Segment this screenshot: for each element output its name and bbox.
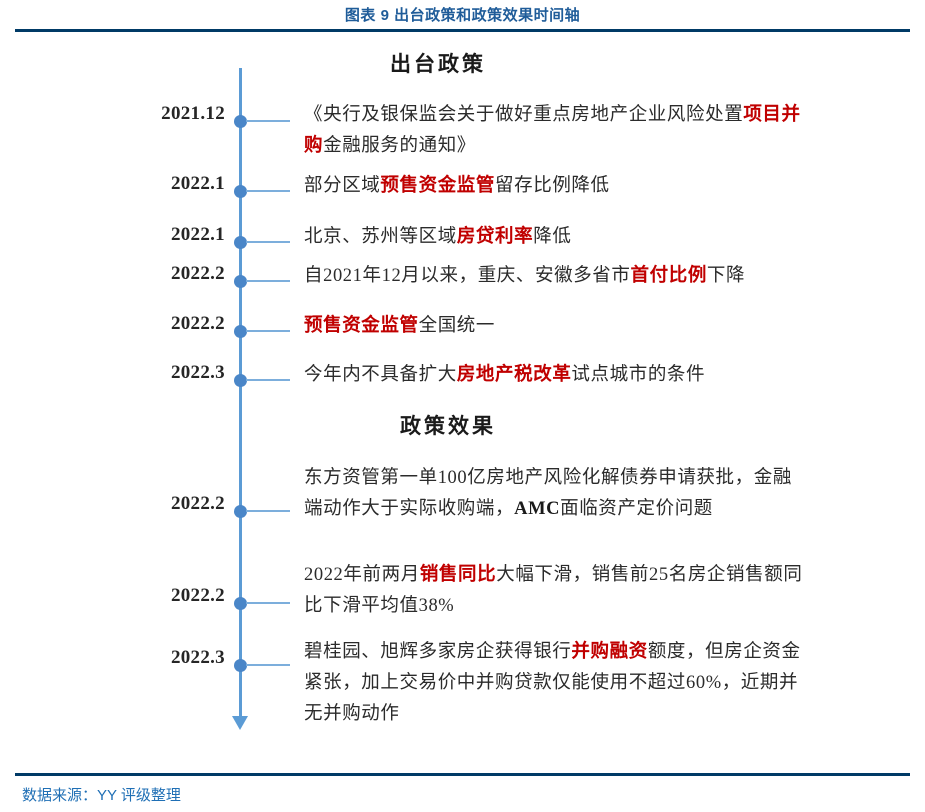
timeline-arrow-icon	[232, 716, 248, 730]
text-segment: 自2021年12月以来，重庆、安徽多省市	[304, 266, 631, 286]
event-connector-line	[246, 602, 290, 604]
text-segment: 《央行及银保监会关于做好重点房地产企业风险处置	[304, 105, 743, 125]
event-description: 部分区域预售资金监管留存比例降低	[304, 171, 804, 202]
text-segment: 面临资产定价问题	[560, 499, 713, 519]
event-date: 2022.2	[60, 313, 225, 335]
event-connector-line	[246, 330, 290, 332]
text-segment: AMC	[514, 499, 560, 519]
highlighted-term: 预售资金监管	[380, 176, 495, 196]
event-connector-line	[246, 120, 290, 122]
text-segment: 碧桂园、旭辉多家房企获得银行	[304, 642, 571, 662]
footer-divider	[15, 773, 910, 776]
event-date: 2021.12	[60, 103, 225, 125]
event-date: 2022.2	[60, 263, 225, 285]
text-segment: 北京、苏州等区域	[304, 227, 457, 247]
event-date: 2022.1	[60, 173, 225, 195]
highlighted-term: 房地产税改革	[457, 365, 572, 385]
event-date: 2022.1	[60, 224, 225, 246]
event-description: 碧桂园、旭辉多家房企获得银行并购融资额度，但房企资金紧张，加上交易价中并购贷款仅…	[304, 637, 804, 730]
text-segment: 全国统一	[419, 316, 495, 336]
source-note: 数据来源：YY 评级整理	[22, 784, 181, 805]
event-description: 2022年前两月销售同比大幅下滑，销售前25名房企销售额同比下滑平均值38%	[304, 560, 804, 622]
text-segment: 下降	[707, 266, 745, 286]
section-heading-policies: 出台政策	[390, 48, 486, 78]
event-description: 《央行及银保监会关于做好重点房地产企业风险处置项目并购金融服务的通知》	[304, 100, 804, 162]
event-connector-line	[246, 241, 290, 243]
event-connector-line	[246, 664, 290, 666]
highlighted-term: 并购融资	[571, 642, 647, 662]
event-description: 东方资管第一单100亿房地产风险化解债券申请获批，金融端动作大于实际收购端，AM…	[304, 463, 804, 525]
event-connector-line	[246, 379, 290, 381]
event-date: 2022.3	[60, 362, 225, 384]
section-heading-effects: 政策效果	[400, 410, 496, 440]
event-description: 北京、苏州等区域房贷利率降低	[304, 222, 804, 253]
event-connector-line	[246, 280, 290, 282]
event-description: 自2021年12月以来，重庆、安徽多省市首付比例下降	[304, 261, 804, 292]
figure-title: 图表 9 出台政策和政策效果时间轴	[0, 4, 925, 25]
event-connector-line	[246, 510, 290, 512]
text-segment: 留存比例降低	[495, 176, 610, 196]
event-connector-line	[246, 190, 290, 192]
text-segment: 金融服务的通知》	[323, 136, 476, 156]
highlighted-term: 销售同比	[420, 565, 496, 585]
event-description: 今年内不具备扩大房地产税改革试点城市的条件	[304, 360, 804, 391]
event-description: 预售资金监管全国统一	[304, 311, 804, 342]
event-date: 2022.2	[60, 585, 225, 607]
text-segment: 部分区域	[304, 176, 380, 196]
event-date: 2022.3	[60, 647, 225, 669]
text-segment: 试点城市的条件	[571, 365, 705, 385]
header-divider	[15, 29, 910, 32]
highlighted-term: 房贷利率	[457, 227, 533, 247]
highlighted-term: 首付比例	[631, 266, 707, 286]
text-segment: 今年内不具备扩大	[304, 365, 457, 385]
text-segment: 降低	[533, 227, 571, 247]
highlighted-term: 预售资金监管	[304, 316, 419, 336]
text-segment: 2022年前两月	[304, 565, 420, 585]
event-date: 2022.2	[60, 493, 225, 515]
timeline-axis	[239, 68, 242, 723]
